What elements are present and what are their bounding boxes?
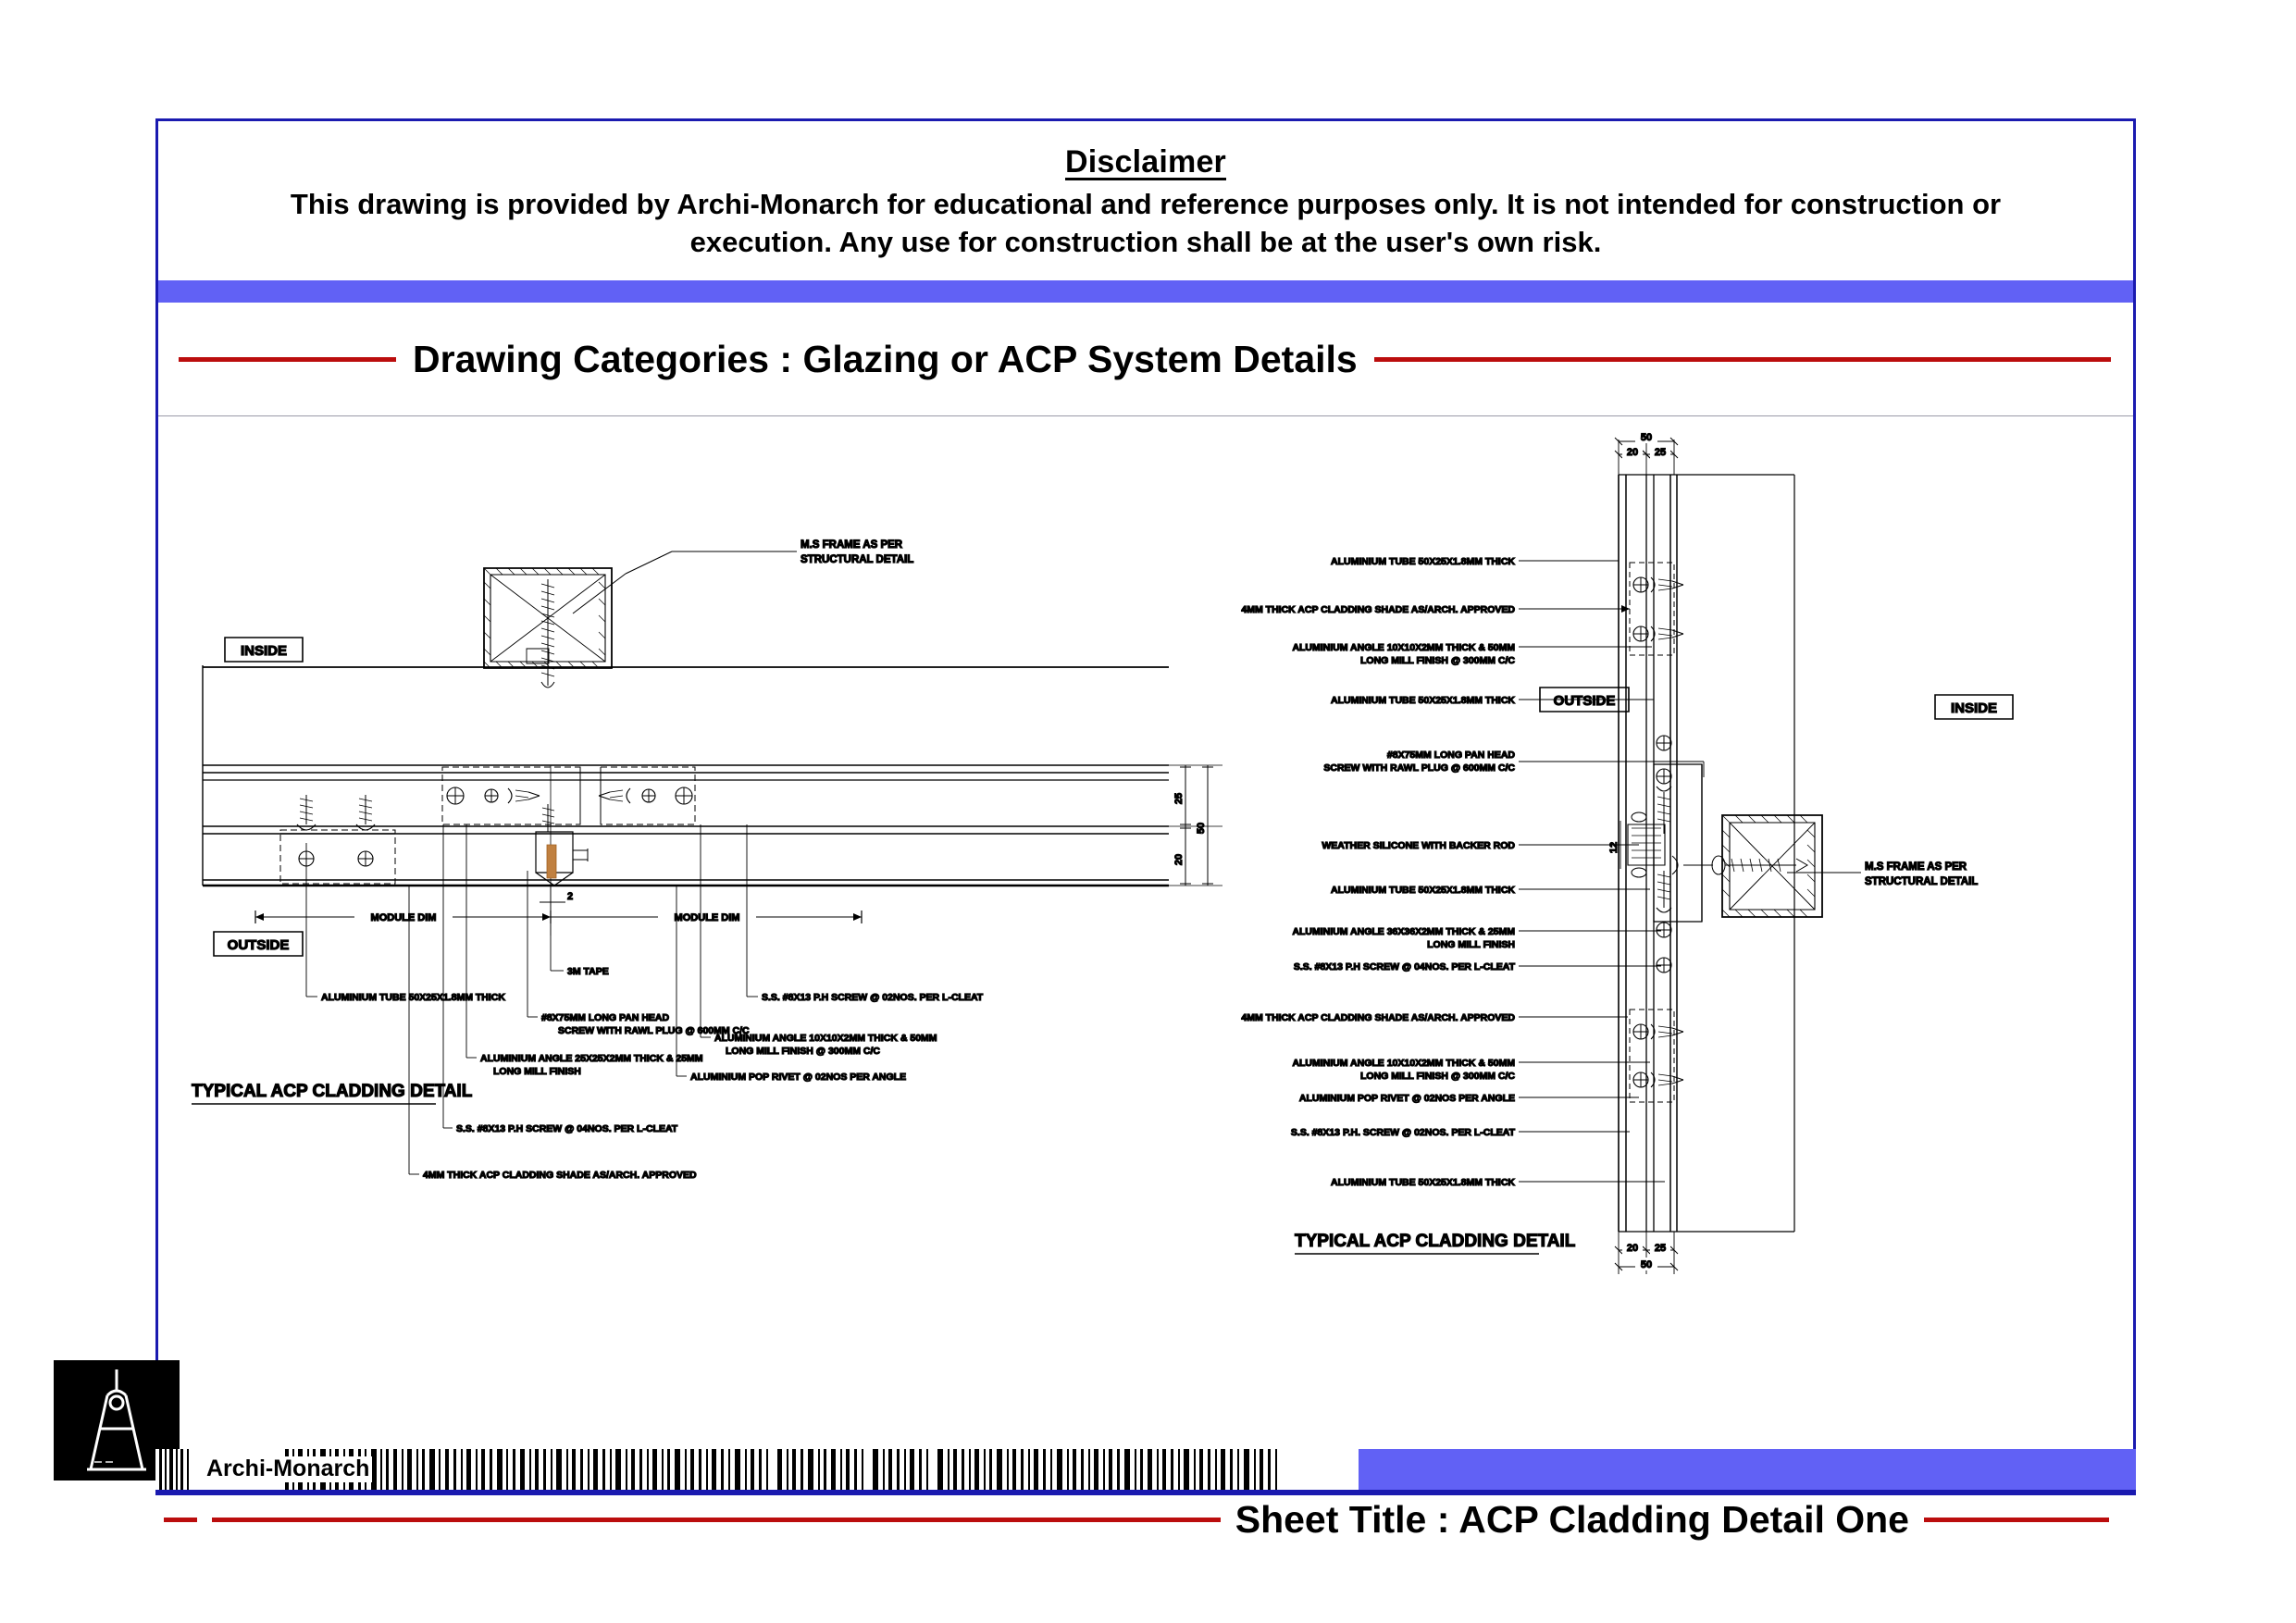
hairline-rule-top	[158, 415, 2133, 416]
left-callout-tape: 3M TAPE	[567, 966, 609, 977]
bottom-blue-rule	[155, 1490, 2136, 1495]
left-callout-ss-screw-02: S.S. #8X13 P.H SCREW @ 02NOS. PER L-CLEA…	[762, 992, 984, 1003]
blue-divider-bar	[158, 280, 2133, 303]
barcode-strip: Archi-Monarch	[155, 1449, 2136, 1490]
right-callout-tube-mid: ALUMINIUM TUBE 50X25X1.8MM THICK	[1331, 695, 1515, 706]
right-top-dim-total: 50	[1641, 432, 1652, 443]
left-callout-panhead-1: #8X75MM LONG PAN HEAD	[541, 1012, 669, 1023]
left-callout-angle25-1: ALUMINIUM ANGLE 25X25X2MM THICK & 25MM	[480, 1053, 703, 1064]
sheet-frame: Disclaimer This drawing is provided by A…	[155, 118, 2136, 1489]
left-callout-poprivet: ALUMINIUM POP RIVET @ 02NOS PER ANGLE	[690, 1072, 906, 1083]
right-callout-tube-bot: ALUMINIUM TUBE 50X25X1.8MM THICK	[1331, 1177, 1515, 1188]
right-callout-angle10-top-1: ALUMINIUM ANGLE 10X10X2MM THICK & 50MM	[1292, 642, 1515, 653]
right-callout-angle10-top-2: LONG MILL FINISH @ 300MM C/C	[1360, 655, 1515, 666]
left-module-dim-2: MODULE DIM	[675, 912, 740, 923]
right-bottom-dim-left: 20	[1627, 1243, 1638, 1254]
left-module-dim-1: MODULE DIM	[371, 912, 437, 923]
left-detail-title: TYPICAL ACP CLADDING DETAIL	[192, 1082, 473, 1101]
left-callout-tube: ALUMINIUM TUBE 50X25X1.8MM THICK	[321, 992, 505, 1003]
disclaimer-block: Disclaimer This drawing is provided by A…	[158, 121, 2133, 280]
left-callout-frame-2: STRUCTURAL DETAIL	[800, 554, 913, 565]
left-callout-angle25-2: LONG MILL FINISH	[493, 1066, 581, 1077]
right-bottom-dim-right: 25	[1655, 1243, 1666, 1254]
left-callout-acp: 4MM THICK ACP CLADDING SHADE AS/ARCH. AP…	[423, 1170, 697, 1181]
right-callout-ss-screw-04: S.S. #8X13 P.H SCREW @ 04NOS. PER L-CLEA…	[1294, 961, 1516, 973]
left-callout-angle10-1: ALUMINIUM ANGLE 10X10X2MM THICK & 50MM	[714, 1033, 937, 1044]
right-outside-label: OUTSIDE	[1554, 693, 1616, 709]
right-callout-tube-mid2: ALUMINIUM TUBE 50X25X1.8MM THICK	[1331, 885, 1515, 896]
right-bottom-dim-total: 50	[1641, 1259, 1652, 1270]
right-callout-angle10-bot-2: LONG MILL FINISH @ 300MM C/C	[1360, 1071, 1515, 1082]
drawing-canvas: INSIDE	[158, 417, 2139, 1467]
left-edge-dim-20: 20	[1173, 854, 1185, 865]
right-callout-poprivet: ALUMINIUM POP RIVET @ 02NOS PER ANGLE	[1299, 1093, 1515, 1104]
left-callout-ss-screw-04: S.S. #8X13 P.H SCREW @ 04NOS. PER L-CLEA…	[456, 1123, 678, 1134]
drawing-category-title: Drawing Categories : Glazing or ACP Syst…	[396, 341, 1374, 378]
right-silicone-dim: 12	[1608, 842, 1620, 853]
right-inside-label: INSIDE	[1951, 700, 1997, 716]
right-detail-title: TYPICAL ACP CLADDING DETAIL	[1295, 1232, 1576, 1251]
left-inside-label: INSIDE	[241, 643, 287, 659]
right-callout-angle36-2: LONG MILL FINISH	[1427, 939, 1515, 950]
barcode-blue-strip	[1359, 1449, 2136, 1490]
left-gap-dim: 2	[567, 891, 573, 902]
right-callout-panhead-2: SCREW WITH RAWL PLUG @ 600MM C/C	[1323, 762, 1515, 774]
sheet-title: Sheet Title : ACP Cladding Detail One	[1221, 1501, 1924, 1539]
drawing-category-band: Drawing Categories : Glazing or ACP Syst…	[158, 303, 2133, 415]
right-callout-angle36-1: ALUMINIUM ANGLE 36X36X2MM THICK & 25MM	[1292, 926, 1515, 937]
right-callout-ss-screw-02: S.S. #8X13 P.H. SCREW @ 02NOS. PER L-CLE…	[1291, 1127, 1516, 1138]
left-callout-angle10-2: LONG MILL FINISH @ 300MM C/C	[726, 1046, 880, 1057]
category-rule-right	[1374, 357, 2111, 362]
right-top-dim-right: 25	[1655, 447, 1666, 458]
right-callout-angle10-bot-1: ALUMINIUM ANGLE 10X10X2MM THICK & 50MM	[1292, 1058, 1515, 1069]
right-callout-frame-1: M.S FRAME AS PER	[1865, 861, 1967, 873]
right-callout-panhead-1: #8X75MM LONG PAN HEAD	[1387, 750, 1515, 761]
right-top-dim-left: 20	[1627, 447, 1638, 458]
titleblock-rule-3	[1924, 1518, 2109, 1522]
brand-name: Archi-Monarch	[204, 1456, 372, 1482]
titleblock-rule-1	[164, 1518, 197, 1522]
right-callout-acp-top: 4MM THICK ACP CLADDING SHADE AS/ARCH. AP…	[1241, 604, 1515, 615]
titleblock-rule-2	[212, 1518, 1221, 1522]
disclaimer-body: This drawing is provided by Archi-Monarc…	[220, 186, 2071, 262]
right-callout-silicone: WEATHER SILICONE WITH BACKER ROD	[1322, 840, 1515, 851]
category-rule-left	[179, 357, 396, 362]
left-callout-frame-1: M.S FRAME AS PER	[800, 539, 903, 551]
right-callout-frame-2: STRUCTURAL DETAIL	[1865, 876, 1978, 887]
barcode: Archi-Monarch	[155, 1449, 1359, 1490]
right-callout-acp-bot: 4MM THICK ACP CLADDING SHADE AS/ARCH. AP…	[1241, 1012, 1515, 1023]
left-outside-label: OUTSIDE	[228, 937, 290, 953]
disclaimer-title: Disclaimer	[1065, 145, 1226, 180]
left-edge-dim-50: 50	[1196, 823, 1207, 834]
left-edge-dim-25: 25	[1173, 793, 1185, 804]
drawing-sheet: Disclaimer This drawing is provided by A…	[0, 0, 2296, 1623]
right-callout-tube-top: ALUMINIUM TUBE 50X25X1.8MM THICK	[1331, 556, 1515, 567]
